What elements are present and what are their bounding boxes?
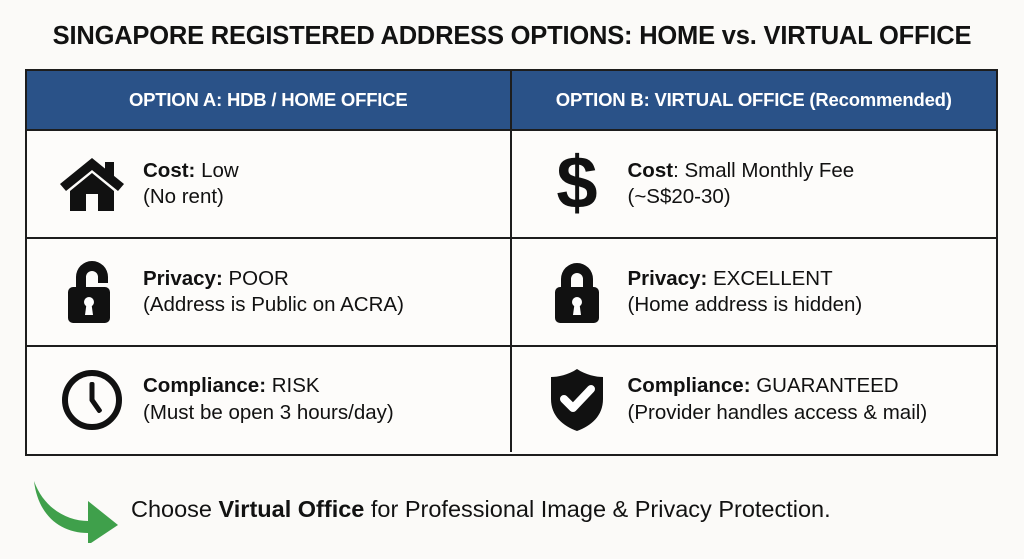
footer-text-before: Choose — [131, 496, 219, 522]
page-title: SINGAPORE REGISTERED ADDRESS OPTIONS: HO… — [53, 22, 972, 51]
title-bar: SINGAPORE REGISTERED ADDRESS OPTIONS: HO… — [0, 22, 1024, 51]
home-icon — [55, 147, 129, 221]
cell-label: Compliance: — [143, 374, 266, 397]
cell-label: Cost: — [143, 159, 195, 182]
footer-text-after: for Professional Image & Privacy Protect… — [364, 496, 830, 522]
cell-sub-line: (Must be open 3 hours/day) — [143, 400, 394, 426]
table-cell-cost-home: Cost: Low (No rent) — [27, 131, 512, 237]
cell-label: Cost — [628, 159, 674, 182]
cell-value: RISK — [266, 374, 320, 397]
table-cell-privacy-virtual: Privacy: EXCELLENT (Home address is hidd… — [512, 239, 997, 345]
cell-value: : Small Monthly Fee — [673, 159, 854, 182]
table-row: Privacy: POOR (Address is Public on ACRA… — [27, 239, 996, 347]
locked-padlock-icon — [540, 255, 614, 329]
cell-main-line: Compliance: GUARANTEED — [628, 373, 928, 399]
cell-label: Compliance: — [628, 374, 751, 397]
table-header-option-b-label: OPTION B: VIRTUAL OFFICE (Recommended) — [556, 89, 952, 111]
cell-sub-line: (Home address is hidden) — [628, 292, 863, 318]
table-row: Cost: Low (No rent) $ Cost: Small Monthl… — [27, 131, 996, 239]
table-row: Compliance: RISK (Must be open 3 hours/d… — [27, 347, 996, 452]
cell-text: Privacy: EXCELLENT (Home address is hidd… — [628, 266, 863, 318]
cell-text: Cost: Low (No rent) — [143, 158, 239, 210]
cell-sub-line: (Provider handles access & mail) — [628, 400, 928, 426]
unlocked-padlock-icon — [55, 255, 129, 329]
shield-check-icon — [540, 363, 614, 437]
footer-callout: Choose Virtual Office for Professional I… — [25, 472, 998, 546]
cell-sub-line: (~S$20-30) — [628, 184, 855, 210]
cell-sub-line: (No rent) — [143, 184, 239, 210]
cell-main-line: Compliance: RISK — [143, 373, 394, 399]
curved-arrow-right-icon — [25, 474, 123, 544]
clock-icon — [55, 363, 129, 437]
table-cell-privacy-home: Privacy: POOR (Address is Public on ACRA… — [27, 239, 512, 345]
table-header-option-a-label: OPTION A: HDB / HOME OFFICE — [129, 89, 408, 111]
cell-text: Cost: Small Monthly Fee (~S$20-30) — [628, 158, 855, 210]
cell-value: GUARANTEED — [751, 374, 899, 397]
cell-label: Privacy: — [628, 267, 708, 290]
comparison-table: OPTION A: HDB / HOME OFFICE OPTION B: VI… — [25, 69, 998, 456]
table-header-option-a: OPTION A: HDB / HOME OFFICE — [27, 71, 512, 129]
cell-value: Low — [195, 159, 238, 182]
table-cell-compliance-virtual: Compliance: GUARANTEED (Provider handles… — [512, 347, 997, 452]
cell-value: EXCELLENT — [707, 267, 832, 290]
table-cell-compliance-home: Compliance: RISK (Must be open 3 hours/d… — [27, 347, 512, 452]
cell-value: POOR — [223, 267, 289, 290]
cell-main-line: Privacy: POOR — [143, 266, 404, 292]
footer-text-bold: Virtual Office — [219, 496, 365, 522]
cell-main-line: Cost: Small Monthly Fee — [628, 158, 855, 184]
cell-text: Compliance: RISK (Must be open 3 hours/d… — [143, 373, 394, 425]
dollar-sign-icon: $ — [540, 147, 614, 221]
cell-sub-line: (Address is Public on ACRA) — [143, 292, 404, 318]
cell-text: Privacy: POOR (Address is Public on ACRA… — [143, 266, 404, 318]
svg-text:$: $ — [556, 148, 597, 220]
cell-main-line: Privacy: EXCELLENT — [628, 266, 863, 292]
table-cell-cost-virtual: $ Cost: Small Monthly Fee (~S$20-30) — [512, 131, 997, 237]
cell-main-line: Cost: Low — [143, 158, 239, 184]
footer-text: Choose Virtual Office for Professional I… — [131, 496, 831, 523]
cell-label: Privacy: — [143, 267, 223, 290]
cell-text: Compliance: GUARANTEED (Provider handles… — [628, 373, 928, 425]
table-header-option-b: OPTION B: VIRTUAL OFFICE (Recommended) — [512, 71, 997, 129]
table-header-row: OPTION A: HDB / HOME OFFICE OPTION B: VI… — [27, 71, 996, 131]
